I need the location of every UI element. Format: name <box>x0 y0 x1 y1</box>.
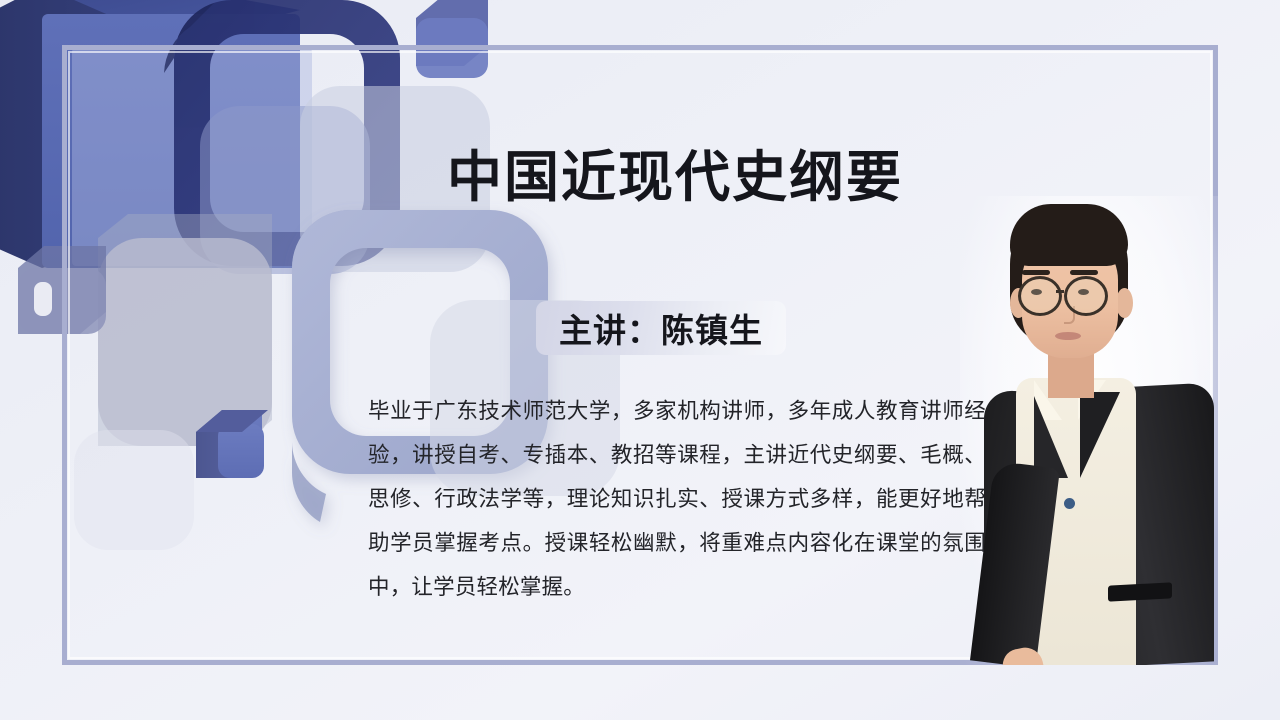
lapel-right <box>1080 392 1120 478</box>
photo-bottom-fade <box>960 637 1220 665</box>
eyebrow-left <box>1022 270 1050 275</box>
mouth <box>1055 332 1081 340</box>
presenter-photo <box>960 196 1220 665</box>
presenter-label: 主讲：陈镇生 <box>559 304 763 352</box>
ear-right <box>1116 288 1133 318</box>
eyeglasses-bridge <box>1056 290 1064 293</box>
jacket-pocket <box>1108 582 1172 601</box>
course-title: 中国近现代史纲要 <box>410 132 940 212</box>
hair-fringe <box>1017 240 1124 266</box>
eyebrow-right <box>1070 270 1098 275</box>
eyeglasses-lens-left <box>1018 276 1062 316</box>
eyeglasses-lens-right <box>1064 276 1108 316</box>
course-cover-slide: 中国近现代史纲要 主讲：陈镇生 毕业于广东技术师范大学，多家机构讲师，多年成人教… <box>0 0 1280 720</box>
presenter-badge: 主讲：陈镇生 <box>536 301 786 355</box>
shirt-button <box>1064 498 1075 509</box>
presenter-bio: 毕业于广东技术师范大学，多家机构讲师，多年成人教育讲师经验，讲授自考、专插本、教… <box>368 390 986 610</box>
